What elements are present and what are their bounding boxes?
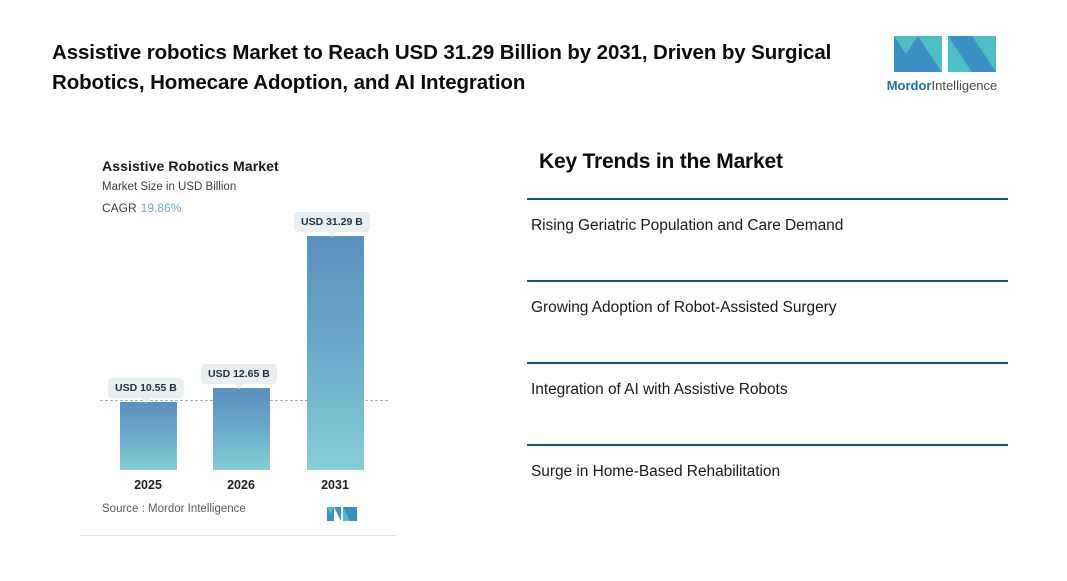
mordor-intelligence-mark — [324, 502, 360, 524]
assistive-robotics-market-chart-card: Assistive Robotics Market Market Size in… — [80, 140, 396, 536]
data-label-2031: USD 31.29 B — [294, 212, 370, 232]
chart-plot-area: USD 10.55 B USD 12.65 B USD 31.29 B 2025… — [80, 140, 396, 480]
data-label-2026: USD 12.65 B — [201, 364, 277, 384]
x-tick-2025: 2025 — [113, 478, 183, 492]
bar-2026 — [213, 388, 270, 470]
trend-row: Integration of AI with Assistive Robots — [527, 362, 1008, 444]
trend-label-2: Growing Adoption of Robot-Assisted Surge… — [527, 282, 1008, 317]
logo-wordmark: MordorIntelligence — [878, 78, 1006, 93]
data-label-2025: USD 10.55 B — [108, 378, 184, 398]
bar-2025 — [120, 402, 177, 470]
page-title: Assistive robotics Market to Reach USD 3… — [52, 38, 867, 98]
key-trends-panel: Key Trends in the Market Rising Geriatri… — [527, 150, 1008, 526]
trend-row: Surge in Home-Based Rehabilitation — [527, 444, 1008, 526]
trend-row: Rising Geriatric Population and Care Dem… — [527, 198, 1008, 280]
bar-2031 — [307, 236, 364, 470]
trend-label-1: Rising Geriatric Population and Care Dem… — [527, 200, 1008, 235]
chart-source-note: Source : Mordor Intelligence — [102, 503, 246, 515]
key-trends-title: Key Trends in the Market — [539, 150, 1008, 174]
page-header: Assistive robotics Market to Reach USD 3… — [0, 0, 1067, 118]
logo-word-mordor: Mordor — [887, 78, 932, 93]
trend-row: Growing Adoption of Robot-Assisted Surge… — [527, 280, 1008, 362]
logo-word-intelligence: Intelligence — [932, 78, 998, 93]
x-tick-2031: 2031 — [300, 478, 370, 492]
x-tick-2026: 2026 — [206, 478, 276, 492]
mordor-logo-mark — [878, 20, 1006, 76]
trend-label-3: Integration of AI with Assistive Robots — [527, 364, 1008, 399]
trend-label-4: Surge in Home-Based Rehabilitation — [527, 446, 1008, 481]
mordor-intelligence-logo: MordorIntelligence — [878, 20, 1006, 96]
